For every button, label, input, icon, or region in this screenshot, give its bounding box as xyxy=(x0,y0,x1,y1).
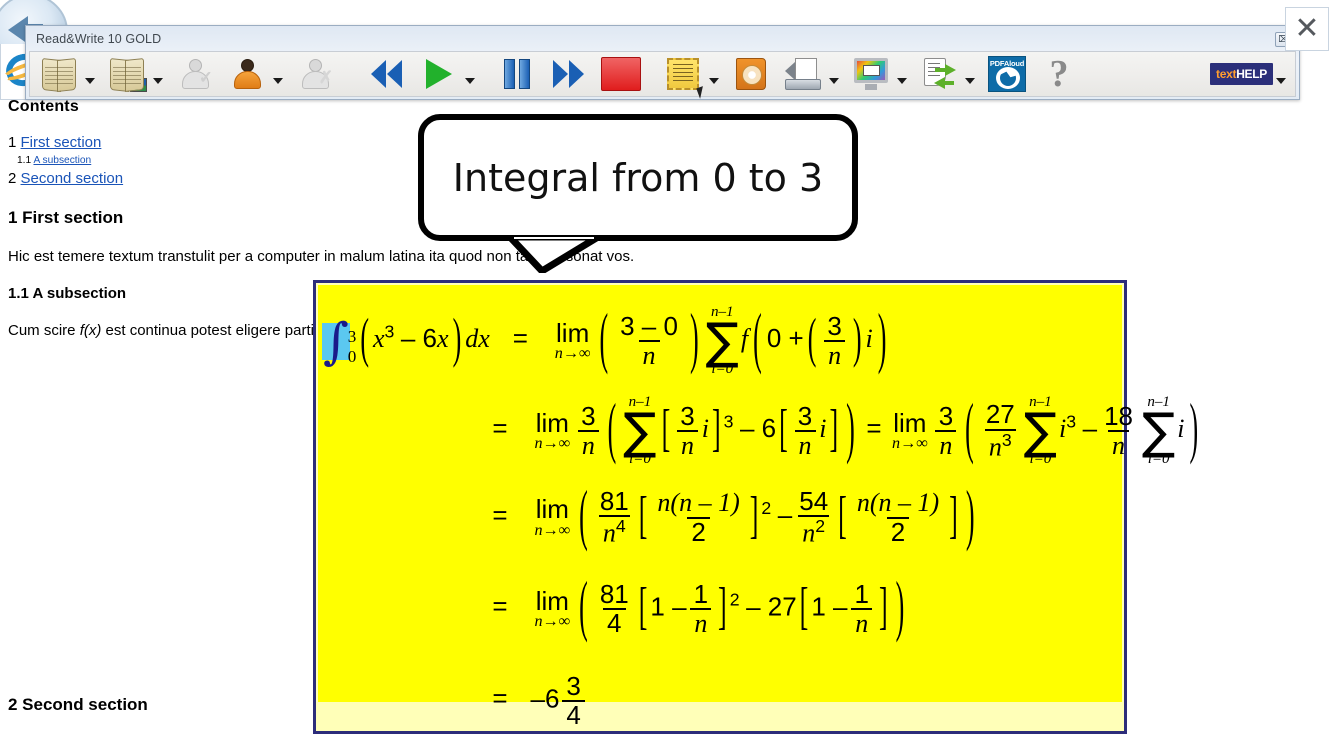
math-equation-panel[interactable]: ∫ 3 0 (x3 – 6x)dx = lim n→∞ ( 3 – 0 n ) … xyxy=(313,280,1127,734)
brand-dropdown[interactable] xyxy=(1273,52,1289,96)
integral-operator: ∫ 3 0 xyxy=(322,323,356,360)
equals-sign: = xyxy=(476,500,524,531)
toc-link-a-subsection[interactable]: A subsection xyxy=(33,155,91,166)
toc-link-second-section[interactable]: Second section xyxy=(21,170,124,187)
toolbar-item-screenshot-reader[interactable] xyxy=(104,52,166,96)
integrand-variable: x xyxy=(373,324,385,353)
list-item: 2 Second section xyxy=(8,170,123,188)
toolbar-item-read-aloud[interactable] xyxy=(36,52,98,96)
equals-sign: = xyxy=(476,683,524,714)
speech-bubble-tail-icon xyxy=(508,237,600,273)
heading-first-section: 1 First section xyxy=(8,208,123,228)
chevron-down-icon xyxy=(85,78,95,84)
screenshot-reader-button[interactable] xyxy=(104,52,150,96)
list-item: 1 First section xyxy=(8,134,123,152)
sticky-note-icon xyxy=(667,58,699,90)
chevron-down-icon xyxy=(153,78,163,84)
table-of-contents: 1 First section 1.1 A subsection 2 Secon… xyxy=(8,134,123,188)
brand-prefix: text xyxy=(1216,67,1236,81)
differential: dx xyxy=(465,324,490,353)
person-orange-icon xyxy=(230,59,264,89)
toc-link-first-section[interactable]: First section xyxy=(21,134,102,151)
forward-button[interactable] xyxy=(546,52,592,96)
toolbar-item-help[interactable]: ? xyxy=(1036,52,1082,96)
pause-icon xyxy=(504,59,530,89)
summation-operator: n–1 ∑ i=0 xyxy=(706,305,739,377)
spell-check-button[interactable]: ✓ xyxy=(172,52,218,96)
texthelp-logo[interactable]: textHELP xyxy=(1210,63,1273,85)
read-aloud-button[interactable] xyxy=(36,52,82,96)
math-equation-content: ∫ 3 0 (x3 – 6x)dx = lim n→∞ ( 3 – 0 n ) … xyxy=(316,283,1124,731)
sticky-note-dropdown[interactable] xyxy=(706,52,722,96)
integrand-term: – 6 xyxy=(401,323,437,353)
color-monitor-icon xyxy=(854,58,888,90)
toolbar-item-sticky-note[interactable] xyxy=(660,52,722,96)
toc-number: 1.1 xyxy=(17,155,31,166)
limit-operator-2: lim n→∞ xyxy=(892,410,928,453)
toolbar-item-verb-checker[interactable]: ✗ xyxy=(292,52,338,96)
integrand-variable-2: x xyxy=(437,324,449,353)
toolbar-item-pdf-aloud[interactable]: PDFAloud xyxy=(984,52,1030,96)
prediction-dropdown[interactable] xyxy=(270,52,286,96)
help-button[interactable]: ? xyxy=(1036,52,1082,96)
person-check-icon: ✓ xyxy=(178,59,212,89)
toolbar-item-forward[interactable] xyxy=(546,52,592,96)
chevron-down-icon xyxy=(965,78,975,84)
function-f: f xyxy=(741,324,748,353)
toolbar-item-translator[interactable] xyxy=(916,52,978,96)
summation-operator-3: n–1 ∑ i=0 xyxy=(1142,395,1175,467)
brand-suffix: HELP xyxy=(1236,67,1267,81)
limit-operator: lim n→∞ xyxy=(535,496,571,539)
limit-operator: lim n→∞ xyxy=(555,320,591,363)
equals-sign-2: = xyxy=(866,413,881,443)
integral-lower-limit: 0 xyxy=(348,347,357,367)
question-mark-icon: ? xyxy=(1050,55,1069,93)
integrand-exponent: 3 xyxy=(385,321,395,341)
mouse-cursor-icon xyxy=(696,86,706,99)
pause-button[interactable] xyxy=(494,52,540,96)
paragraph-two-prefix: Cum scire xyxy=(8,322,80,339)
limit-operator: lim n→∞ xyxy=(535,588,571,631)
math-line-5: = –6 3 4 xyxy=(476,673,588,730)
book-with-image-icon xyxy=(110,59,144,89)
chevron-down-icon xyxy=(1276,78,1286,84)
chevron-down-icon xyxy=(897,78,907,84)
summation-operator: n–1 ∑ i=0 xyxy=(623,395,656,467)
toolbar-title: Read&Write 10 GOLD xyxy=(36,32,161,46)
toolbar-item-play[interactable] xyxy=(416,52,478,96)
sticky-note-button[interactable] xyxy=(660,52,706,96)
math-line-3: = lim n→∞ ( 81 n4 [ n(n – 1) 2 ]2 – 54 n… xyxy=(476,488,980,547)
math-line-1: ∫ 3 0 (x3 – 6x)dx = lim n→∞ ( 3 – 0 n ) … xyxy=(322,305,891,377)
translator-dropdown[interactable] xyxy=(962,52,978,96)
close-button[interactable]: ✕ xyxy=(1285,7,1329,51)
summation-operator-2: n–1 ∑ i=0 xyxy=(1024,395,1057,467)
readwrite-toolbar[interactable]: Read&Write 10 GOLD ⌧ ✓ xyxy=(25,25,1300,100)
toc-number: 1 xyxy=(8,134,16,151)
pdf-aloud-button[interactable]: PDFAloud xyxy=(984,52,1030,96)
chevron-down-icon xyxy=(829,78,839,84)
paragraph-two-function: f(x) xyxy=(80,322,102,339)
toolbar-item-spell-check[interactable]: ✓ xyxy=(172,52,218,96)
heading-second-section: 2 Second section xyxy=(8,695,148,715)
chevron-down-icon xyxy=(273,78,283,84)
toolbar-item-stop[interactable] xyxy=(598,52,644,96)
toolbar-icon-bar: ✓ ✗ xyxy=(29,51,1296,97)
person-x-icon: ✗ xyxy=(298,59,332,89)
translate-document-icon xyxy=(922,58,956,90)
scanner-speaker-icon xyxy=(785,58,821,90)
toolbar-item-prediction[interactable] xyxy=(224,52,286,96)
speech-bubble-text: Integral from 0 to 3 xyxy=(453,156,823,200)
scan-button[interactable] xyxy=(780,52,826,96)
result-integer: –6 xyxy=(531,683,560,713)
math-line-2: = lim n→∞ 3 n ( n–1 ∑ i=0 [ 3 n i]3 – 6[… xyxy=(476,395,1203,467)
limit-operator: lim n→∞ xyxy=(535,410,571,453)
scan-dropdown[interactable] xyxy=(826,52,842,96)
heading-subsection: 1.1 A subsection xyxy=(8,285,126,302)
toolbar-item-pause[interactable] xyxy=(494,52,540,96)
rewind-button[interactable] xyxy=(364,52,410,96)
toolbar-item-rewind[interactable] xyxy=(364,52,410,96)
math-line-4: = lim n→∞ ( 81 4 [1 – 1 n ]2 – 27[1 – 1 … xyxy=(476,581,909,638)
fraction: 3 – 0 n xyxy=(616,313,682,370)
integral-sign-icon: ∫ xyxy=(322,323,350,360)
stop-icon xyxy=(601,57,641,91)
dictionary-button[interactable] xyxy=(728,52,774,96)
integral-upper-limit: 3 xyxy=(348,327,357,347)
read-aloud-dropdown[interactable] xyxy=(82,52,98,96)
stop-button[interactable] xyxy=(598,52,644,96)
contents-heading: Contents xyxy=(8,98,79,116)
open-book-icon xyxy=(42,59,76,89)
pdfaloud-globe-icon: PDFAloud xyxy=(988,56,1026,92)
fast-forward-icon xyxy=(553,60,585,88)
toolbar-brand-area[interactable]: textHELP xyxy=(1210,52,1295,96)
result-fraction: 3 4 xyxy=(562,673,584,730)
verb-checker-button[interactable]: ✗ xyxy=(292,52,338,96)
toolbar-item-dictionary[interactable] xyxy=(728,52,774,96)
screenshot-reader-dropdown[interactable] xyxy=(150,52,166,96)
screen-masking-button[interactable] xyxy=(848,52,894,96)
dictionary-book-icon xyxy=(736,58,766,90)
toolbar-item-scan[interactable] xyxy=(780,52,842,96)
play-icon xyxy=(426,59,452,89)
chevron-down-icon xyxy=(465,78,475,84)
play-dropdown[interactable] xyxy=(462,52,478,96)
chevron-down-icon xyxy=(709,78,719,84)
play-button[interactable] xyxy=(416,52,462,96)
speech-bubble: Integral from 0 to 3 xyxy=(418,114,858,241)
equals-sign: = xyxy=(476,591,524,622)
translator-button[interactable] xyxy=(916,52,962,96)
close-icon: ✕ xyxy=(1294,14,1319,44)
rewind-icon xyxy=(371,60,403,88)
prediction-button[interactable] xyxy=(224,52,270,96)
toc-number: 2 xyxy=(8,170,16,187)
toolbar-item-screen-masking[interactable] xyxy=(848,52,910,96)
list-item: 1.1 A subsection xyxy=(8,152,123,170)
equals-sign: = xyxy=(476,413,524,444)
screen-masking-dropdown[interactable] xyxy=(894,52,910,96)
equals-sign: = xyxy=(496,323,544,354)
